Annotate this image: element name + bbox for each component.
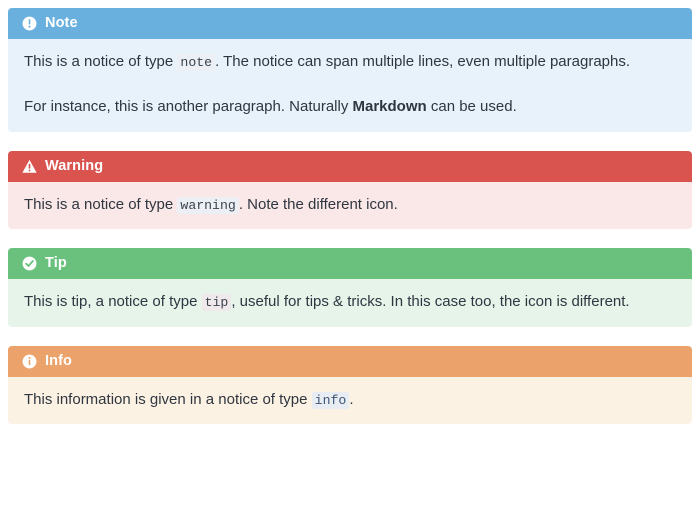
admonition-info: InfoThis information is given in a notic… <box>8 346 692 424</box>
admonition-header-tip: Tip <box>8 248 692 279</box>
inline-code: tip <box>202 294 232 311</box>
body-text: This information is given in a notice of… <box>24 391 312 408</box>
body-text: This is tip, a notice of type <box>24 293 202 310</box>
body-text: . <box>349 391 353 408</box>
body-text: , useful for tips & tricks. In this case… <box>231 293 629 310</box>
body-text: For instance, this is another paragraph.… <box>24 98 353 115</box>
admonition-body-note: This is a notice of type note. The notic… <box>8 39 692 132</box>
admonition-body-tip: This is tip, a notice of type tip, usefu… <box>8 279 692 326</box>
admonition-paragraph: This information is given in a notice of… <box>24 388 676 411</box>
admonition-header-warning: Warning <box>8 151 692 182</box>
bold-text: Markdown <box>353 98 427 115</box>
admonition-body-info: This information is given in a notice of… <box>8 377 692 424</box>
body-text: . The notice can span multiple lines, ev… <box>215 53 630 70</box>
admonitions-page: NoteThis is a notice of type note. The n… <box>0 0 700 531</box>
exclamation-triangle-icon <box>22 159 37 174</box>
inline-code: info <box>312 392 350 409</box>
admonition-title: Note <box>45 16 78 31</box>
admonition-paragraph: This is a notice of type note. The notic… <box>24 50 676 73</box>
check-circle-icon <box>22 256 37 271</box>
admonition-paragraph: This is a notice of type warning. Note t… <box>24 193 676 216</box>
admonition-tip: TipThis is tip, a notice of type tip, us… <box>8 248 692 326</box>
body-text: This is a notice of type <box>24 196 177 213</box>
body-text: . Note the different icon. <box>239 196 398 213</box>
admonition-paragraph: For instance, this is another paragraph.… <box>24 95 676 118</box>
info-circle-icon <box>22 354 37 369</box>
admonition-title: Tip <box>45 256 67 271</box>
inline-code: warning <box>177 197 238 214</box>
admonition-title: Warning <box>45 159 103 174</box>
admonition-header-info: Info <box>8 346 692 377</box>
body-text: This is a notice of type <box>24 53 177 70</box>
admonition-title: Info <box>45 354 72 369</box>
admonition-header-note: Note <box>8 8 692 39</box>
inline-code: note <box>177 54 215 71</box>
exclamation-circle-icon <box>22 16 37 31</box>
admonition-body-warning: This is a notice of type warning. Note t… <box>8 182 692 229</box>
admonition-paragraph: This is tip, a notice of type tip, usefu… <box>24 290 676 313</box>
admonition-warning: WarningThis is a notice of type warning.… <box>8 151 692 229</box>
admonition-note: NoteThis is a notice of type note. The n… <box>8 8 692 132</box>
body-text: can be used. <box>427 98 517 115</box>
